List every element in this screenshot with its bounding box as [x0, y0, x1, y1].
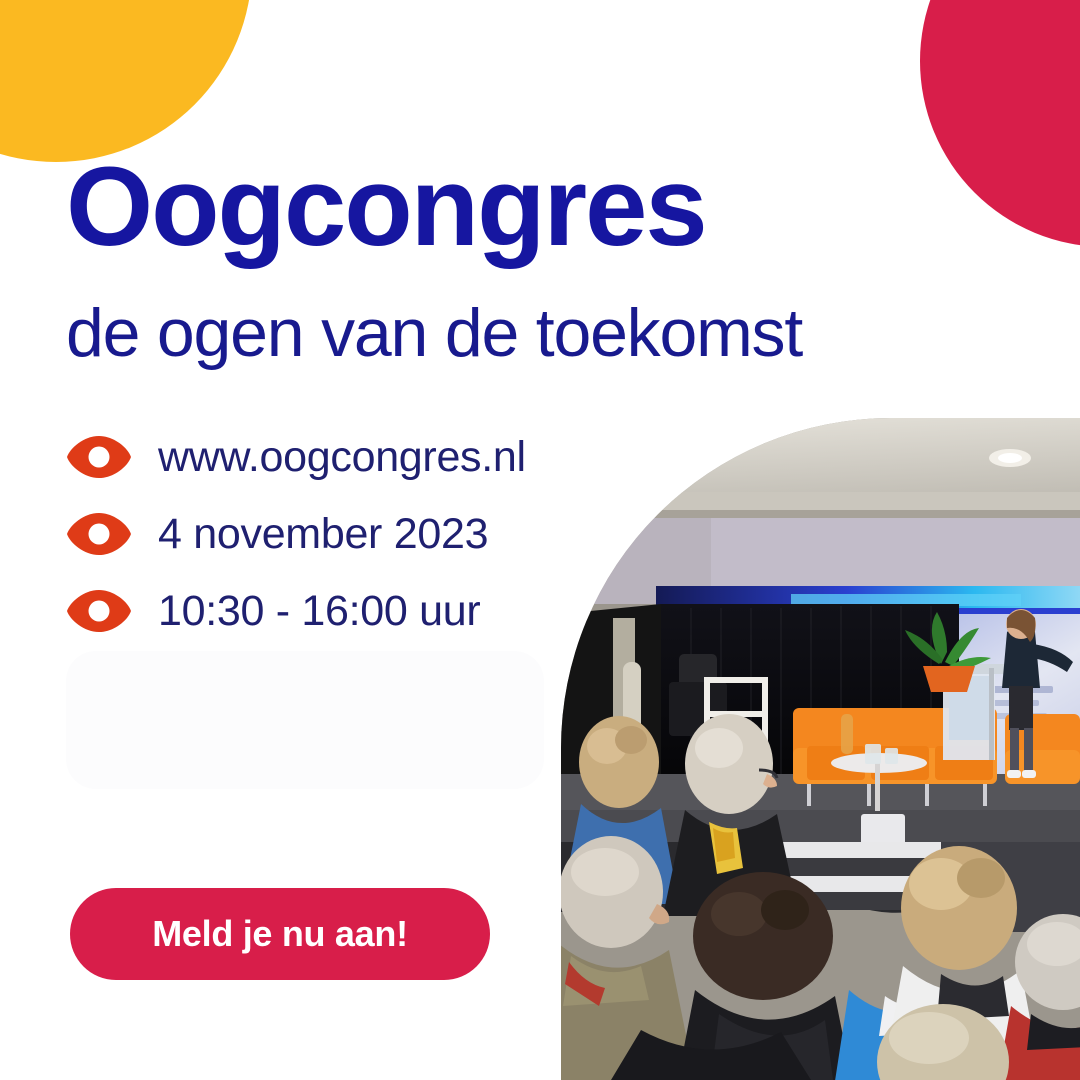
eye-icon — [66, 435, 132, 479]
list-item-label: 10:30 - 16:00 uur — [158, 590, 480, 633]
conference-photo — [561, 418, 1080, 1080]
eye-icon — [66, 512, 132, 556]
info-list: www.oogcongres.nl 4 november 2023 10:30 … — [66, 430, 526, 638]
list-item[interactable]: 10:30 - 16:00 uur — [66, 584, 526, 638]
page-subtitle: de ogen van de toekomst — [66, 299, 802, 367]
page-title: Oogcongres — [66, 151, 706, 263]
eye-icon — [66, 589, 132, 633]
conference-photo-illustration — [561, 418, 1080, 1080]
signup-button[interactable]: Meld je nu aan! — [70, 888, 490, 980]
yellow-circle — [0, 0, 252, 162]
poster-canvas: Oogcongres de ogen van de toekomst www.o… — [0, 0, 1080, 1080]
list-item-label: www.oogcongres.nl — [158, 436, 526, 479]
red-circle — [920, 0, 1080, 247]
list-item[interactable]: 4 november 2023 — [66, 507, 526, 561]
list-item[interactable]: www.oogcongres.nl — [66, 430, 526, 484]
list-item-label: 4 november 2023 — [158, 513, 488, 556]
placeholder-panel — [66, 651, 544, 789]
signup-button-label: Meld je nu aan! — [152, 916, 408, 952]
